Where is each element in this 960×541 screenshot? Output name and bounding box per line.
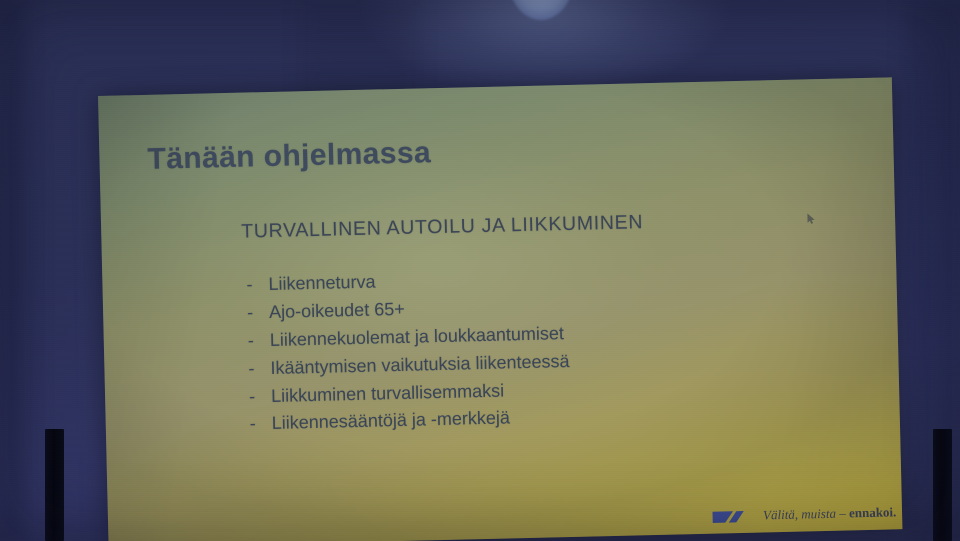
bullet-dash-icon: - bbox=[249, 383, 272, 411]
list-item-label: Liikenneturva bbox=[268, 269, 376, 299]
projection-screen: Tänään ohjelmassa TURVALLINEN AUTOILU JA… bbox=[98, 77, 902, 541]
footer-slogan-italic: Välitä, muista – bbox=[763, 505, 849, 522]
slide-section-heading: TURVALLINEN AUTOILU JA LIIKKUMINEN bbox=[241, 206, 855, 243]
bullet-dash-icon: - bbox=[247, 299, 270, 327]
slide-bullet-list: - Liikenneturva - Ajo-oikeudet 65+ - Lii… bbox=[246, 257, 860, 439]
bullet-dash-icon: - bbox=[249, 410, 272, 438]
footer-logo: Välitä, muista – ennakoi. bbox=[712, 504, 897, 533]
ceiling-lamp-icon bbox=[507, 0, 575, 20]
slide-title: Tänään ohjelmassa bbox=[147, 126, 854, 177]
bullet-dash-icon: - bbox=[247, 327, 270, 355]
mouse-pointer-icon bbox=[807, 211, 815, 222]
room-photo-scene: Tänään ohjelmassa TURVALLINEN AUTOILU JA… bbox=[0, 0, 960, 541]
stand-pole-right bbox=[933, 429, 952, 541]
chevron-logo-mark-icon bbox=[712, 510, 756, 530]
wall-shadow-band-left bbox=[0, 0, 26, 541]
footer-subline bbox=[763, 520, 896, 532]
list-item-label: Ajo-oikeudet 65+ bbox=[269, 296, 405, 327]
slide-body: TURVALLINEN AUTOILU JA LIIKKUMINEN - Lii… bbox=[241, 206, 860, 439]
footer-slogan-strong: ennakoi. bbox=[849, 504, 897, 520]
presentation-slide: Tänään ohjelmassa TURVALLINEN AUTOILU JA… bbox=[98, 77, 902, 541]
list-item-label: Liikennesääntöjä ja -merkkejä bbox=[271, 405, 510, 438]
bullet-dash-icon: - bbox=[246, 271, 269, 299]
footer-logo-text: Välitä, muista – ennakoi. bbox=[763, 504, 897, 532]
bullet-dash-icon: - bbox=[248, 355, 271, 383]
stand-pole-left bbox=[45, 429, 64, 541]
